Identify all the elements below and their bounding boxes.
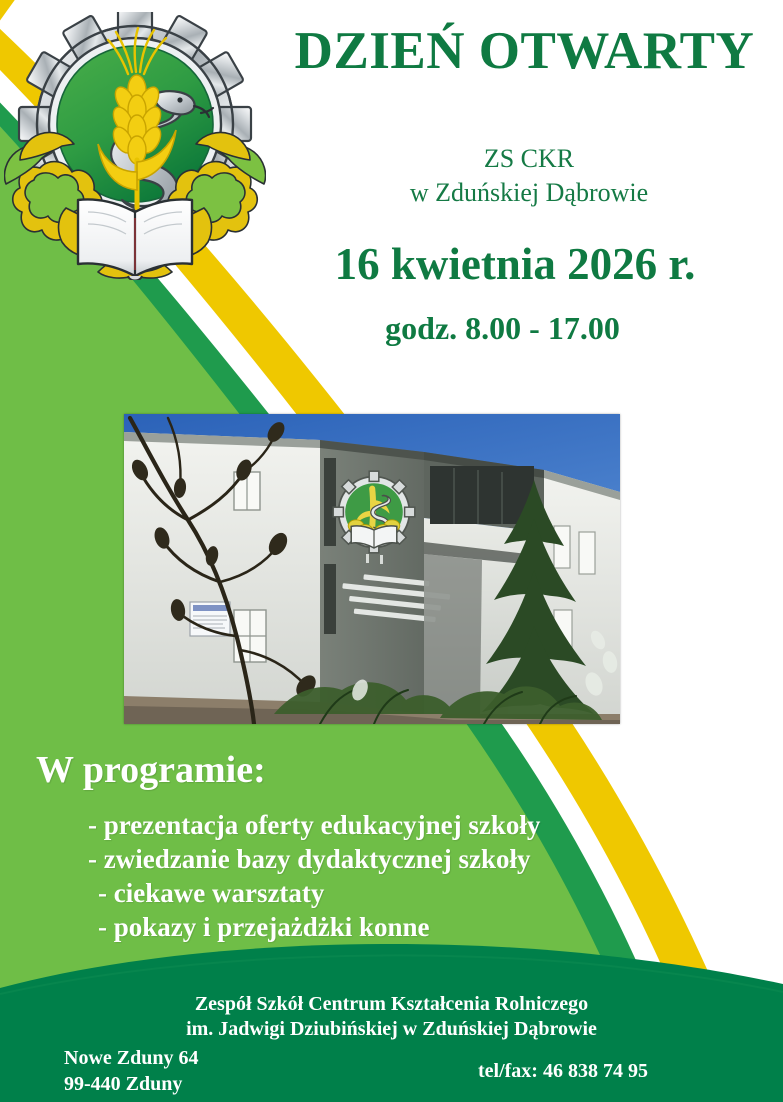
footer-address-line-1: Nowe Zduny 64 [64,1045,198,1071]
school-building-photo [124,414,620,724]
open-book-icon [78,200,192,281]
event-date: 16 kwietnia 2026 r. [250,238,780,290]
programme-title: W programie: [36,748,266,792]
footer-school-name: Zespół Szkół Centrum Kształcenia Rolnicz… [0,992,783,1042]
footer-phone: tel/fax: 46 838 74 95 [478,1060,648,1083]
page-title: DZIEŃ OTWARTY [272,24,777,80]
list-item: - pokazy i przejażdżki konne [88,910,728,944]
list-item: - ciekawe warsztaty [88,876,728,910]
school-emblem-svg [4,12,266,280]
school-emblem [4,12,266,280]
footer-address-line-2: 99-440 Zduny [64,1071,198,1097]
subtitle-line-1: ZS CKR [284,142,774,176]
footer-school-line-2: im. Jadwigi Dziubińskiej w Zduńskiej Dąb… [0,1017,783,1042]
footer-address: Nowe Zduny 64 99-440 Zduny [64,1045,198,1097]
list-item: - zwiedzanie bazy dydaktycznej szkoły [88,842,728,876]
programme-list: - prezentacja oferty edukacyjnej szkoły … [88,808,728,944]
list-item: - prezentacja oferty edukacyjnej szkoły [88,808,728,842]
subtitle-line-2: w Zduńskiej Dąbrowie [284,176,774,210]
school-building-illustration [124,414,620,724]
poster-root: DZIEŃ OTWARTY ZS CKR w Zduńskiej Dąbrowi… [0,0,783,1102]
footer-school-line-1: Zespół Szkół Centrum Kształcenia Rolnicz… [0,992,783,1017]
event-hours: godz. 8.00 - 17.00 [250,310,755,347]
subtitle-block: ZS CKR w Zduńskiej Dąbrowie [284,142,774,210]
